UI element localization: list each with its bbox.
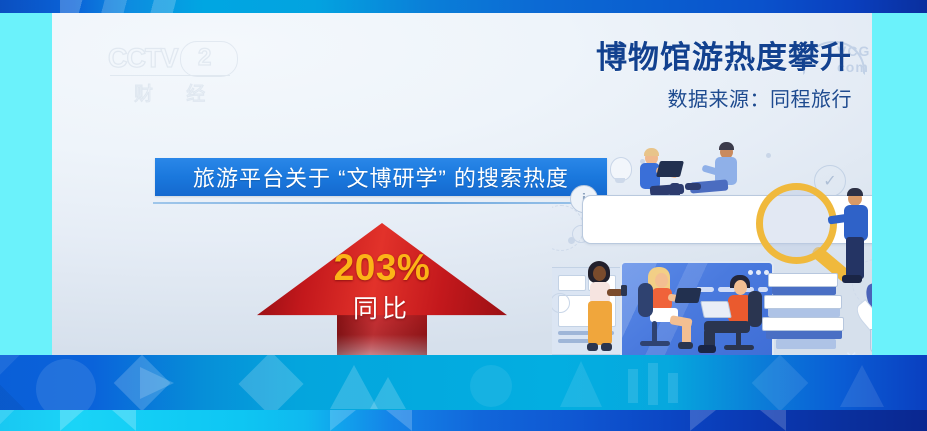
statistic-comparison-label: 同比 [257, 289, 507, 325]
man2-shoe [698, 345, 716, 353]
cctv-channel-name: 财 经 [134, 79, 219, 106]
woman1-head [593, 266, 606, 281]
sub-band-triangle-1 [60, 410, 84, 431]
man2-chair-back [748, 291, 762, 327]
woman2-shoe [678, 342, 693, 349]
book-step-2 [762, 317, 844, 331]
monitor-dot-2 [756, 270, 761, 275]
person3-shoe [842, 275, 862, 283]
man2-laptop [700, 301, 732, 318]
woman2-chair-post [652, 321, 657, 343]
monitor-dot-1 [748, 270, 753, 275]
man2-chair-base [724, 345, 754, 350]
headline-block: 博物馆游热度攀升 数据来源：同程旅行 [547, 41, 852, 112]
person2-hair [719, 142, 734, 150]
band-triangle-1 [330, 365, 378, 409]
broadcast-screenshot: CCTV 2 财 经 博物馆游热度攀升 数据来源：同程旅行 VCG com 旅游… [0, 0, 927, 431]
person3-legs [846, 237, 864, 279]
sub-band-triangle-5 [690, 410, 716, 431]
cctv-logo-rule [110, 75, 230, 76]
band-circle-2 [470, 365, 512, 407]
lightbulb-base [615, 178, 625, 183]
left-cyan-sidebar [0, 13, 52, 355]
woman2-head [655, 273, 668, 288]
bottom-band-primary [0, 355, 927, 410]
woman1-phone [621, 285, 627, 296]
band-triangle-5 [840, 365, 884, 407]
band-diamond-3 [752, 355, 809, 411]
woman2-chair-base [640, 341, 670, 346]
person3-torso [844, 205, 868, 241]
banner-underline [153, 202, 609, 204]
top-gradient-strip [0, 0, 927, 13]
woman1-shoe-right [601, 343, 612, 351]
cctv-logo-row: CCTV 2 [108, 43, 238, 77]
sub-band-triangle-4 [386, 410, 412, 431]
person3-hair [847, 188, 863, 196]
sub-band-triangle-3 [330, 410, 356, 431]
document-card-1 [558, 275, 586, 291]
person-hair [644, 148, 659, 156]
search-topic-banner: 旅游平台关于 “文博研学” 的搜索热度 [155, 158, 607, 196]
woman2-chair-back [638, 283, 653, 317]
book-step-6 [768, 273, 838, 287]
person2-shoe [685, 183, 701, 190]
woman2-laptop [674, 288, 701, 303]
search-icon [756, 183, 837, 264]
plant-pot [870, 329, 872, 353]
band-diamond-2 [238, 355, 303, 417]
plant-leaf-4 [852, 299, 872, 333]
band-bar-3 [668, 373, 678, 403]
search-topic-label: 旅游平台关于 “文博研学” 的搜索热度 [193, 161, 569, 193]
man2-head [734, 280, 747, 295]
decorative-dot-4 [766, 153, 771, 158]
bottom-graphic-band [0, 355, 927, 431]
sub-band-triangle-2 [112, 410, 136, 431]
band-bar-2 [648, 363, 658, 405]
cctv-channel-pill [180, 41, 238, 77]
woman1-pants [588, 301, 612, 345]
book-step-7 [776, 339, 836, 349]
band-triangle-4 [560, 361, 602, 407]
main-content-panel: CCTV 2 财 经 博物馆游热度攀升 数据来源：同程旅行 VCG com 旅游… [52, 13, 872, 355]
cctv-wordmark: CCTV [108, 43, 178, 74]
data-source-subtitle: 数据来源：同程旅行 [547, 83, 852, 112]
page-title: 博物馆游热度攀升 [547, 41, 852, 76]
cctv-channel-logo: CCTV 2 财 经 [108, 43, 238, 99]
book-step-4 [764, 295, 842, 309]
person-laptop [656, 161, 684, 177]
sub-band-triangle-6 [760, 410, 786, 431]
search-illustration: ✷ ✷ ✓ i ! [552, 133, 872, 355]
bottom-band-secondary [0, 410, 927, 431]
cctv-channel-number: 2 [198, 44, 211, 72]
band-bar-1 [628, 369, 638, 403]
right-cyan-sidebar [872, 13, 927, 355]
band-triangle-2 [370, 377, 406, 409]
statistic-value: 203% [257, 247, 507, 289]
woman1-shoe-left [587, 343, 598, 351]
growth-arrow-graphic: 203% 同比 [257, 223, 507, 355]
